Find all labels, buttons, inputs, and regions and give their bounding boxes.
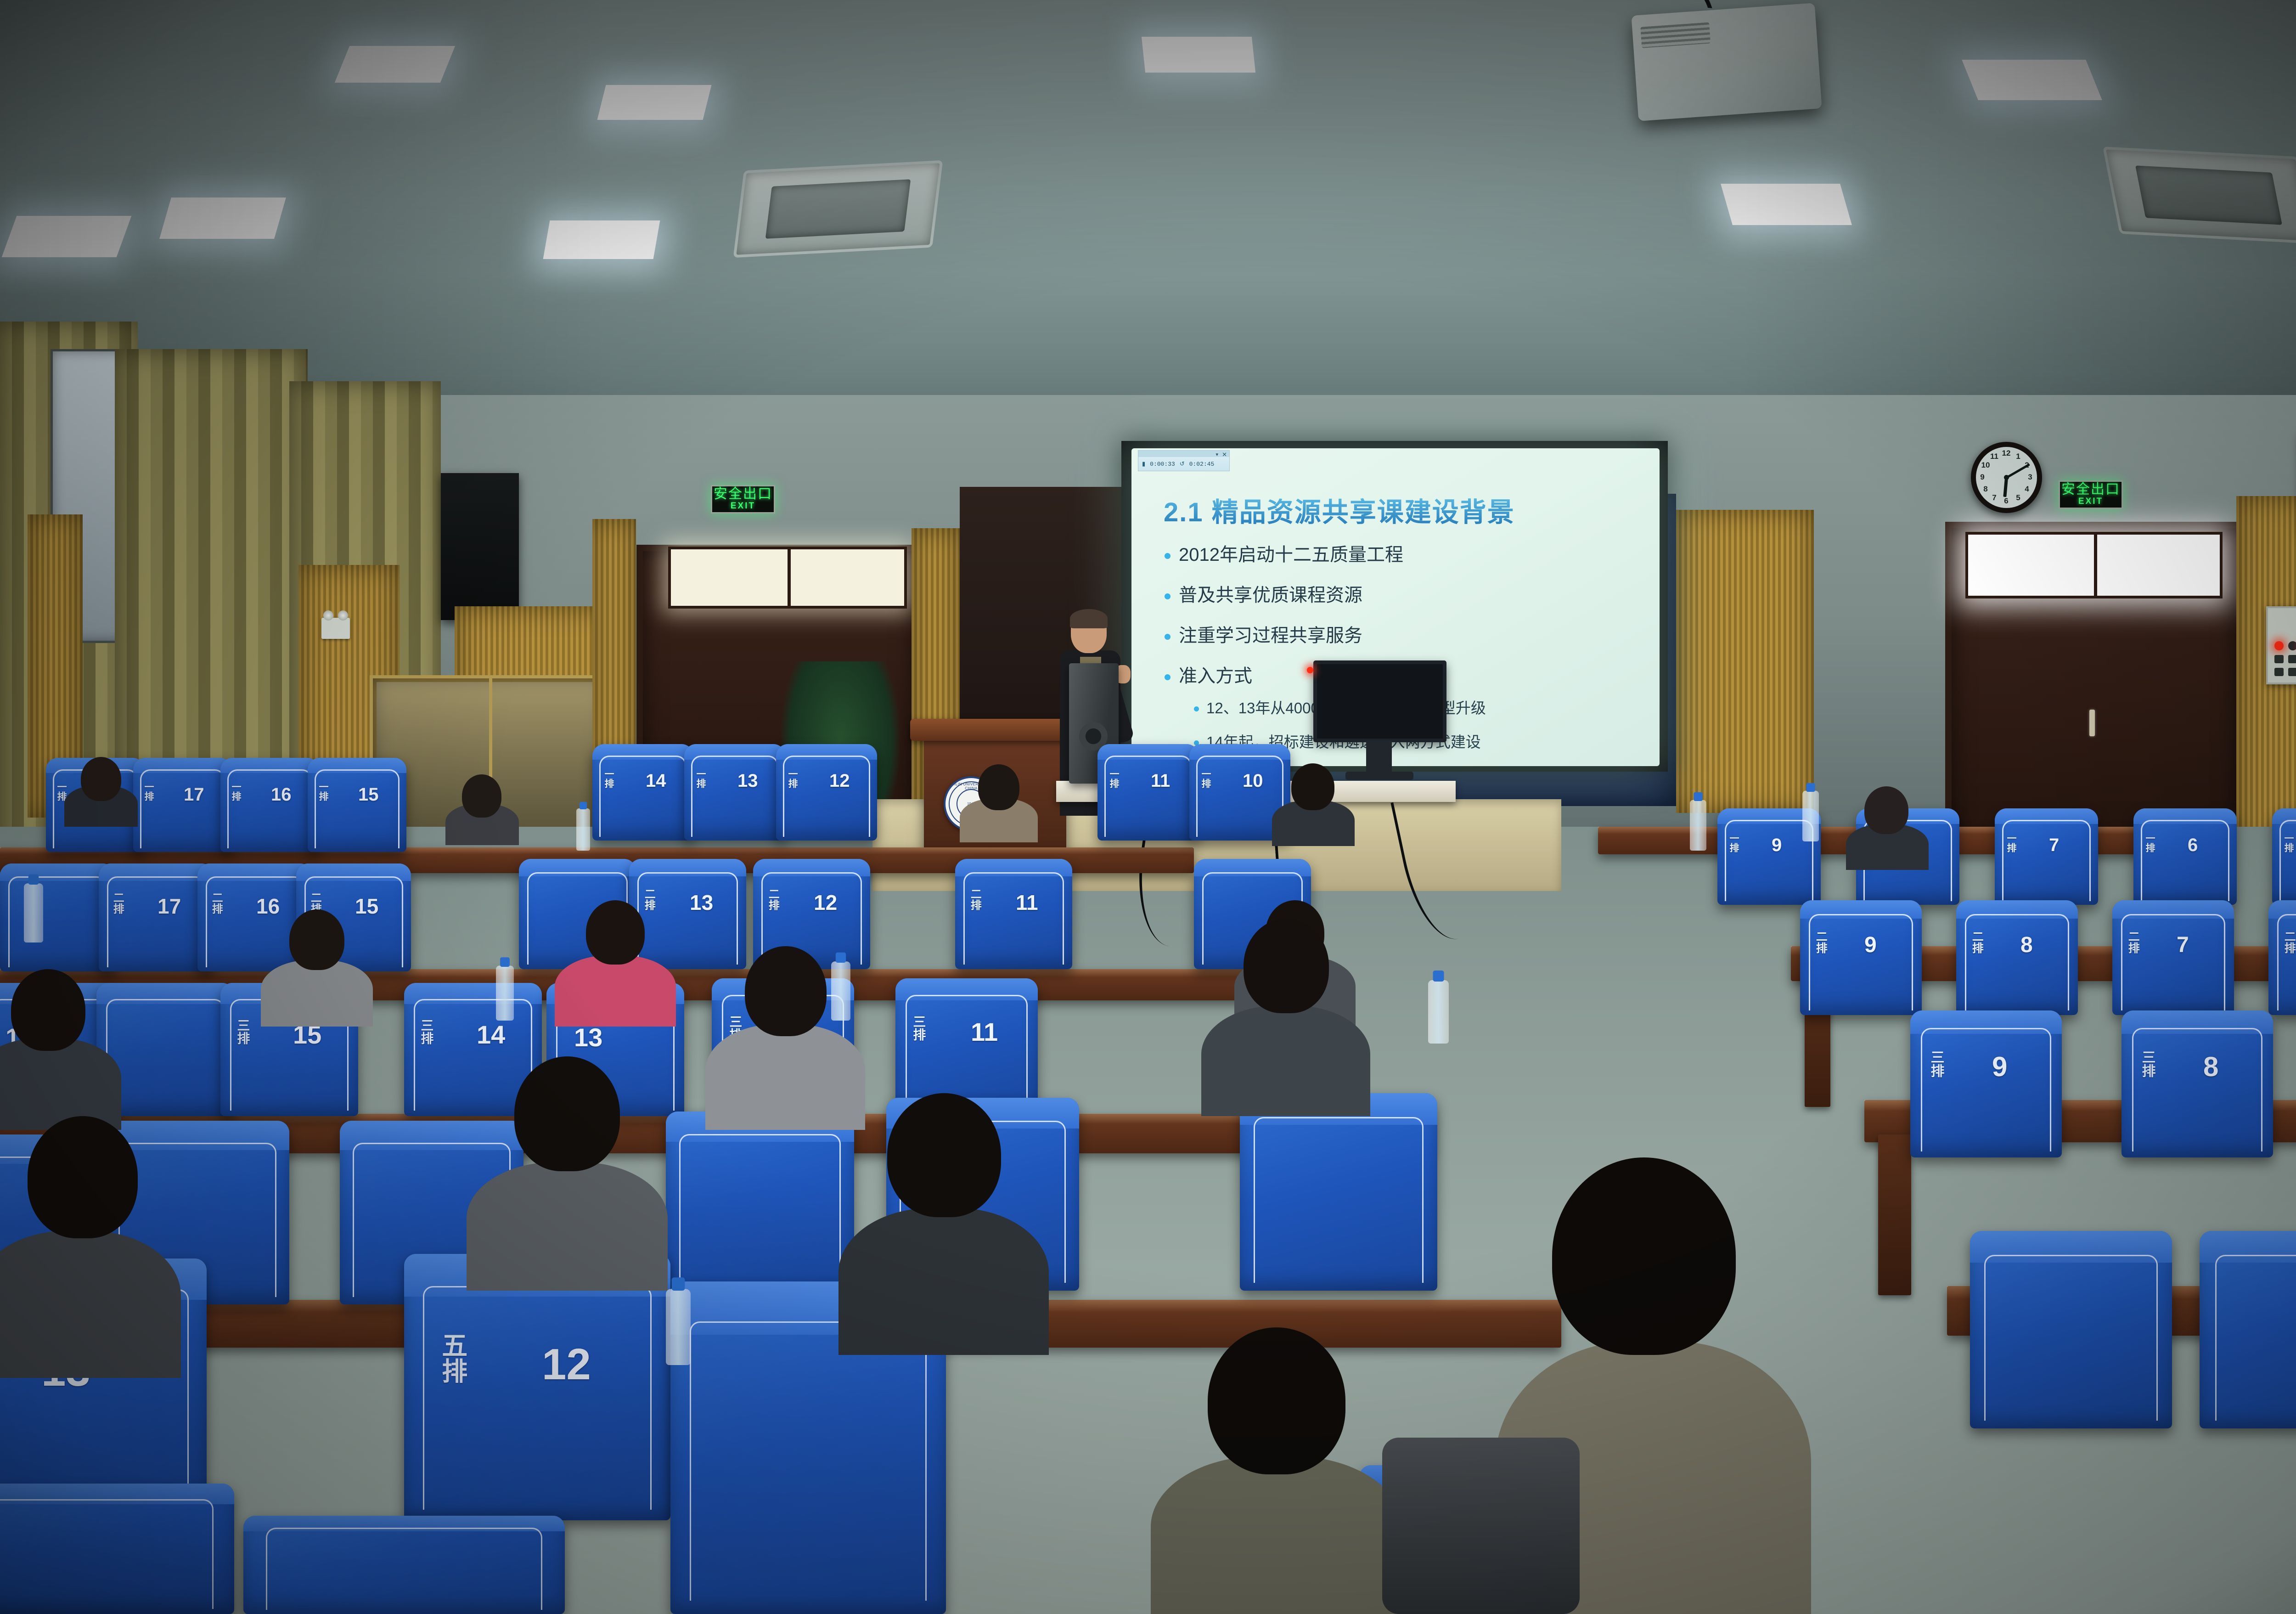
seat-row-label: 二排 xyxy=(1971,931,1983,954)
seat[interactable]: 一排 12 xyxy=(776,744,877,841)
exit-sign-english: EXIT xyxy=(731,501,755,512)
seat-number: 10 xyxy=(1243,771,1263,791)
power-led-icon xyxy=(1307,667,1313,673)
exit-sign-left: 安全出口 EXIT xyxy=(711,485,775,514)
seat-row-label: 五排 xyxy=(439,1332,466,1383)
bullet-dot-icon xyxy=(1194,706,1199,711)
seat-row-label: 一排 xyxy=(2144,833,2155,852)
exit-sign-english: EXIT xyxy=(2078,497,2103,507)
lcd-monitor xyxy=(1313,660,1446,742)
audience-member xyxy=(1841,785,1933,868)
seat-row-label: 一排 xyxy=(2006,833,2016,852)
seat-number: 13 xyxy=(737,771,758,791)
control-led-on xyxy=(2274,641,2284,650)
clock-numeral: 10 xyxy=(1981,461,1990,470)
audience-member xyxy=(1267,762,1359,845)
audience-head xyxy=(514,1056,620,1171)
door-transom-left xyxy=(668,547,907,609)
water-bottle xyxy=(666,1289,691,1365)
clock-numeral: 11 xyxy=(1990,452,1998,461)
seat[interactable]: 二排 8 xyxy=(1956,900,2078,1015)
seat[interactable]: 三排 9 xyxy=(1910,1010,2062,1157)
seat-row-label: 一排 xyxy=(1728,833,1739,852)
seat-number: 9 xyxy=(1992,1051,2007,1083)
seat[interactable]: 二排 xyxy=(2268,900,2296,1015)
seat-number: 12 xyxy=(829,771,850,791)
seat[interactable]: 一排 5 xyxy=(2272,808,2296,905)
seat-row-label: 二排 xyxy=(210,892,222,914)
seat[interactable]: 一排 13 xyxy=(684,744,785,841)
audience-shoulders xyxy=(838,1208,1049,1355)
close-icon[interactable]: ✕ xyxy=(1222,451,1227,458)
recorder-remaining-time: 0:02:45 xyxy=(1189,461,1215,468)
clock-numeral: 9 xyxy=(1980,473,1984,482)
seat-number: 14 xyxy=(646,771,666,791)
seat-number: 12 xyxy=(542,1339,591,1390)
audience-head xyxy=(1864,786,1908,834)
seat-row-label: 二排 xyxy=(1815,931,1827,954)
seat[interactable]: 二排 9 xyxy=(1800,900,1922,1015)
clock-center-pin xyxy=(2004,475,2009,480)
slide-bullet: 注重学习过程共享服务 xyxy=(1165,626,1633,646)
seat-row-label: 二排 xyxy=(969,888,980,910)
audience-member xyxy=(1199,919,1373,1112)
seat-row-label: 二排 xyxy=(2127,931,2139,954)
bullet-dot-icon xyxy=(1165,634,1171,640)
seat[interactable]: 一排 17 xyxy=(133,758,232,852)
wall-clock: 121234567891011 xyxy=(1971,442,2042,513)
presenter-hair xyxy=(1070,609,1108,628)
seat[interactable]: 一排 14 xyxy=(592,744,693,841)
seat-number: 7 xyxy=(2177,932,2189,958)
seat-number: 8 xyxy=(2203,1051,2218,1083)
seat-number: 11 xyxy=(971,1017,998,1047)
exit-sign-right: 安全出口 EXIT xyxy=(2059,480,2123,509)
wall-speaker xyxy=(441,473,519,620)
wall-control-panel[interactable] xyxy=(2266,606,2296,684)
seat-row-label: 一排 xyxy=(1200,769,1210,788)
seat-number: 6 xyxy=(2188,835,2198,856)
seat[interactable] xyxy=(2200,1231,2296,1428)
monitor-stand xyxy=(1366,740,1392,774)
seat-number: 14 xyxy=(477,1020,505,1050)
seat-number: 8 xyxy=(2020,932,2033,958)
audience-head xyxy=(1208,1327,1345,1474)
audience-head xyxy=(11,969,85,1051)
desk-leg xyxy=(1878,1134,1911,1295)
audience-member xyxy=(1148,1327,1405,1614)
seat-number: 11 xyxy=(1151,771,1170,791)
seat[interactable]: 一排 16 xyxy=(220,758,319,852)
audience-shoulders xyxy=(1201,1006,1370,1116)
clock-numeral: 8 xyxy=(1983,485,1987,494)
audience-shoulders xyxy=(555,955,676,1027)
control-button[interactable] xyxy=(2274,668,2284,676)
clock-numeral: 12 xyxy=(2002,449,2011,458)
audience-head xyxy=(462,774,501,818)
clock-numeral: 7 xyxy=(1992,493,1996,502)
backpack xyxy=(1382,1438,1580,1614)
slide-bullet-text: 普及共享优质课程资源 xyxy=(1179,585,1362,605)
slide-bullet-text: 准入方式 xyxy=(1179,666,1252,686)
clock-numeral: 5 xyxy=(2016,493,2020,502)
record-icon[interactable]: ▮ xyxy=(1142,460,1145,468)
seat[interactable] xyxy=(1970,1231,2172,1428)
control-led-off xyxy=(2288,641,2296,650)
transom-mullion xyxy=(788,549,791,606)
seat-row-label: 一排 xyxy=(318,782,328,801)
seat-row-label: 一排 xyxy=(603,769,613,788)
audience-member-with-backpack xyxy=(1492,1157,1814,1614)
seat-row-label: 三排 xyxy=(1929,1050,1943,1078)
seat-number: 13 xyxy=(690,890,713,915)
water-bottle xyxy=(576,808,590,851)
seat[interactable] xyxy=(243,1516,565,1614)
podium-top xyxy=(910,719,1080,741)
seat[interactable]: 五排 12 xyxy=(404,1254,670,1520)
audience-head xyxy=(745,946,827,1036)
chevron-down-icon[interactable]: ▾ xyxy=(1216,451,1218,457)
control-button[interactable] xyxy=(2288,668,2296,676)
seat-number: 13 xyxy=(574,1022,602,1052)
slide-bullet-text: 2012年启动十二五质量工程 xyxy=(1179,545,1403,565)
audience-head xyxy=(289,909,344,970)
water-bottle xyxy=(831,961,850,1021)
transom-mullion xyxy=(2094,535,2097,596)
audience-head xyxy=(1291,763,1334,810)
seat[interactable]: 一排 11 xyxy=(1097,744,1199,841)
seat-row-label: 一排 xyxy=(231,782,241,801)
clock-numeral: 6 xyxy=(2004,497,2008,506)
bullet-dot-icon xyxy=(1165,593,1171,599)
seat-number: 9 xyxy=(1864,932,1877,958)
bullet-dot-icon xyxy=(1165,674,1171,680)
slide-bullet: 2012年启动十二五质量工程 xyxy=(1165,545,1633,565)
seat-row-label: 一排 xyxy=(1109,769,1119,788)
seat-number: 17 xyxy=(158,894,181,919)
audience-head xyxy=(1244,919,1329,1013)
seat-number: 7 xyxy=(2049,835,2059,856)
audience-head xyxy=(887,1093,1001,1217)
audience-member xyxy=(60,753,142,822)
seat-row-label: 三排 xyxy=(912,1015,925,1041)
audience-shoulders xyxy=(1151,1456,1402,1614)
audience-member xyxy=(955,762,1042,841)
emergency-light xyxy=(321,618,350,639)
seat-row-label: 一排 xyxy=(2283,833,2293,852)
water-bottle xyxy=(1802,791,1819,841)
seat[interactable]: 三排 8 xyxy=(2122,1010,2273,1157)
audience-member xyxy=(257,909,377,1024)
seat-number: 17 xyxy=(184,784,204,805)
exit-sign-chinese: 安全出口 xyxy=(2061,483,2120,497)
seat-row-label: 一排 xyxy=(695,769,705,788)
audience-head xyxy=(1552,1157,1736,1355)
seat[interactable] xyxy=(1240,1093,1437,1291)
audience-member xyxy=(0,1116,184,1373)
seat-row-label: 二排 xyxy=(2283,931,2295,954)
seat[interactable]: 一排 6 xyxy=(2133,808,2237,905)
seat-number: 11 xyxy=(1016,890,1038,915)
seat-number: 15 xyxy=(358,784,379,805)
audience-shoulders xyxy=(467,1162,668,1291)
seat[interactable]: 一排 7 xyxy=(1995,808,2098,905)
seat-row-label: 三排 xyxy=(2140,1050,2155,1078)
seat-row-label: 二排 xyxy=(767,888,778,910)
seat[interactable]: 二排 11 xyxy=(955,859,1072,969)
seat[interactable]: 一排 15 xyxy=(308,758,406,852)
control-button[interactable] xyxy=(2274,655,2284,663)
lecture-hall-photo: 安全出口 EXIT 安全出口 EXIT 121234567891011 xyxy=(0,0,2296,1614)
seat-row-label: 三排 xyxy=(420,1019,433,1044)
seat-number: 16 xyxy=(271,784,292,805)
undo-icon[interactable]: ↺ xyxy=(1180,460,1185,468)
seat[interactable]: 二排 7 xyxy=(2112,900,2234,1015)
bullet-dot-icon xyxy=(1165,553,1171,559)
clock-numeral: 1 xyxy=(2016,452,2020,461)
wood-wall-panel xyxy=(1676,510,1814,813)
audience-member xyxy=(836,1093,1052,1350)
audience-head xyxy=(978,764,1019,810)
exit-sign-chinese: 安全出口 xyxy=(714,487,772,501)
control-button[interactable] xyxy=(2288,655,2296,663)
water-bottle xyxy=(1428,980,1449,1044)
seat[interactable] xyxy=(666,1112,854,1300)
seat-row-label: 一排 xyxy=(143,782,153,801)
screen-recorder-toolbar[interactable]: ▾ ✕ ▮ 0:00:33 ↺ 0:02:45 xyxy=(1138,450,1230,471)
seat-number: 9 xyxy=(1772,835,1782,856)
slide-title: 2.1 精品资源共享课建设背景 xyxy=(1164,491,1515,529)
audience-member xyxy=(551,900,680,1024)
door-handle[interactable] xyxy=(2089,710,2095,736)
audience-head xyxy=(586,900,645,965)
water-bottle xyxy=(496,965,514,1021)
water-bottle xyxy=(1690,800,1706,851)
seat[interactable] xyxy=(0,863,115,971)
seat[interactable] xyxy=(0,1484,234,1614)
audience-member xyxy=(464,1056,670,1286)
slide-bullet: 普及共享优质课程资源 xyxy=(1165,585,1633,605)
audience-head xyxy=(28,1116,138,1238)
seat-number: 12 xyxy=(814,890,837,915)
clock-numeral: 3 xyxy=(2028,473,2032,482)
recorder-elapsed-time: 0:00:33 xyxy=(1150,461,1175,468)
audience-member xyxy=(0,969,124,1125)
seat-row-label: 三排 xyxy=(236,1019,249,1044)
audience-member xyxy=(441,772,523,841)
water-bottle xyxy=(24,883,43,942)
seat-row-label: 二排 xyxy=(112,892,123,914)
door-transom-right xyxy=(1965,532,2223,598)
clock-numeral: 4 xyxy=(2025,485,2029,494)
slide-bullet-text: 注重学习过程共享服务 xyxy=(1179,626,1362,646)
audience-head xyxy=(81,757,121,801)
seat-row-label: 一排 xyxy=(787,769,797,788)
seat[interactable]: 二排 17 xyxy=(99,863,214,971)
audience-shoulders xyxy=(0,1231,181,1378)
